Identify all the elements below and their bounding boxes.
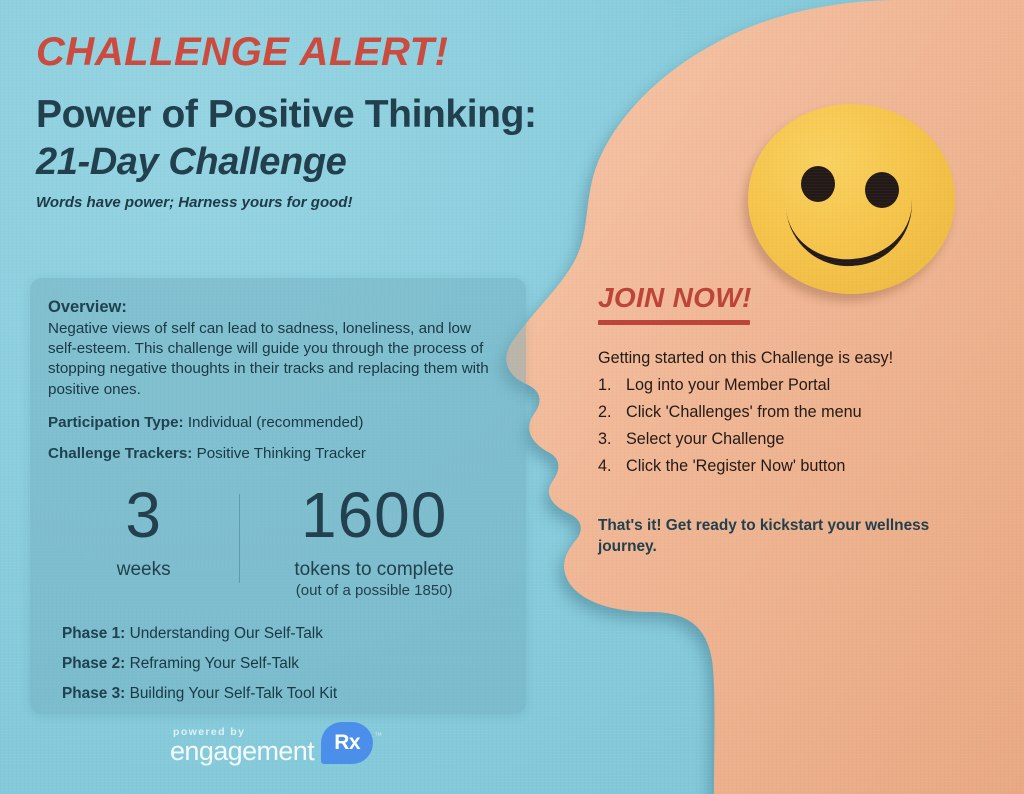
join-intro-text: Getting started on this Challenge is eas… (598, 349, 958, 368)
phase-item-3: Phase 3: Building Your Self-Talk Tool Ki… (62, 685, 502, 703)
engagement-rx-logo: powered by engagement Rx ™ (170, 722, 373, 765)
challenge-trackers-label: Challenge Trackers: (48, 445, 192, 462)
stat-tokens-label: tokens to complete (246, 559, 502, 581)
phase-title-2: Reframing Your Self-Talk (130, 655, 299, 672)
join-step-4-number: 4. (598, 457, 626, 476)
overview-card: Overview: Negative views of self can lea… (30, 278, 526, 714)
join-step-4: 4. Click the 'Register Now' button (598, 457, 958, 476)
poster-canvas: CHALLENGE ALERT! Power of Positive Think… (0, 0, 1024, 794)
join-step-1-text: Log into your Member Portal (626, 376, 830, 395)
phase-item-1: Phase 1: Understanding Our Self-Talk (62, 625, 502, 643)
stat-weeks: 3 weeks (54, 484, 233, 599)
smiley-face-icon (748, 104, 955, 294)
join-step-2-number: 2. (598, 403, 626, 422)
phase-item-2: Phase 2: Reframing Your Self-Talk (62, 655, 502, 673)
join-steps-list: 1. Log into your Member Portal 2. Click … (598, 376, 958, 476)
logo-wordmark: powered by engagement (170, 727, 314, 766)
stats-divider (239, 494, 240, 583)
stats-row: 3 weeks 1600 tokens to complete (out of … (48, 484, 502, 599)
stat-tokens: 1600 tokens to complete (out of a possib… (246, 484, 502, 599)
logo-trademark-icon: ™ (374, 731, 382, 740)
stat-tokens-sublabel: (out of a possible 1850) (246, 582, 502, 599)
stat-tokens-number: 1600 (246, 484, 502, 547)
join-step-1: 1. Log into your Member Portal (598, 376, 958, 395)
join-step-3-number: 3. (598, 430, 626, 449)
challenge-alert-title: CHALLENGE ALERT! (36, 30, 676, 74)
page-title: Power of Positive Thinking: (36, 94, 676, 136)
challenge-trackers-value: Positive Thinking Tracker (197, 445, 366, 462)
join-now-underline (598, 320, 750, 325)
join-step-3-text: Select your Challenge (626, 430, 784, 449)
join-closing-text: That's it! Get ready to kickstart your w… (598, 516, 958, 558)
join-now-section: JOIN NOW! Getting started on this Challe… (598, 282, 958, 558)
join-step-2: 2. Click 'Challenges' from the menu (598, 403, 958, 422)
join-step-3: 3. Select your Challenge (598, 430, 958, 449)
poster-header: CHALLENGE ALERT! Power of Positive Think… (36, 30, 676, 211)
phase-label-2: Phase 2: (62, 655, 125, 672)
logo-rx-text: Rx (334, 731, 360, 755)
participation-type-value: Individual (recommended) (188, 414, 364, 431)
overview-body: Negative views of self can lead to sadne… (48, 319, 502, 400)
challenge-trackers-row: Challenge Trackers: Positive Thinking Tr… (48, 445, 502, 462)
tagline: Words have power; Harness yours for good… (36, 194, 676, 211)
join-step-1-number: 1. (598, 376, 626, 395)
logo-brand-word: engagement (170, 738, 314, 765)
overview-heading: Overview: (48, 298, 502, 317)
stat-weeks-number: 3 (54, 484, 233, 547)
participation-type-label: Participation Type: (48, 414, 184, 431)
phase-label-3: Phase 3: (62, 685, 125, 702)
stat-weeks-label: weeks (54, 559, 233, 581)
page-subtitle: 21-Day Challenge (36, 142, 676, 184)
phase-title-1: Understanding Our Self-Talk (130, 625, 323, 642)
join-now-title: JOIN NOW! (598, 282, 752, 314)
smiley-mouth (785, 185, 917, 272)
participation-type-row: Participation Type: Individual (recommen… (48, 414, 502, 431)
join-step-2-text: Click 'Challenges' from the menu (626, 403, 862, 422)
phases-list: Phase 1: Understanding Our Self-Talk Pha… (48, 625, 502, 703)
phase-label-1: Phase 1: (62, 625, 125, 642)
join-step-4-text: Click the 'Register Now' button (626, 457, 845, 476)
phase-title-3: Building Your Self-Talk Tool Kit (130, 685, 338, 702)
speech-bubble-icon: Rx ™ (321, 722, 373, 764)
